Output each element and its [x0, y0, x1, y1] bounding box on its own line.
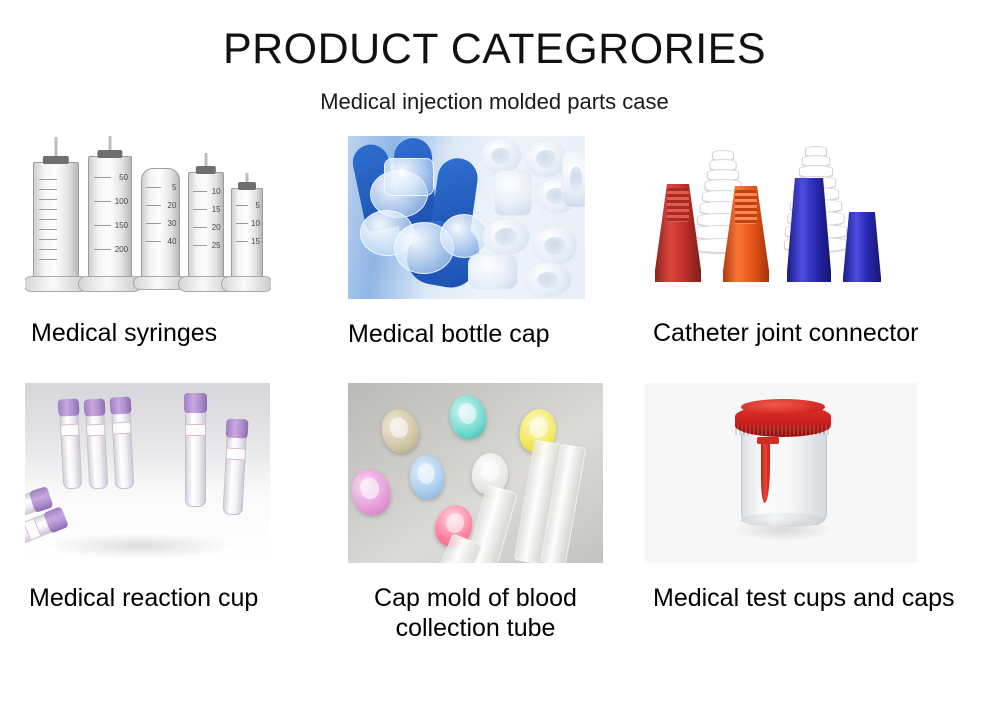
category-label-medical-syringes: Medical syringes	[31, 318, 330, 348]
category-card-medical-reaction-cup[interactable]: Medical reaction cup	[0, 383, 330, 643]
category-label-medical-test-cups-and-caps: Medical test cups and caps	[653, 583, 989, 613]
category-card-medical-syringes[interactable]: 50 100 150 200 5 20 30 40	[0, 136, 330, 349]
category-card-catheter-joint-connector[interactable]: Catheter joint connector	[640, 136, 989, 349]
category-grid: 50 100 150 200 5 20 30 40	[0, 136, 989, 643]
page-title: PRODUCT CATEGRORIES	[0, 0, 989, 71]
category-row-1: 50 100 150 200 5 20 30 40	[0, 136, 989, 349]
medical-syringes-photo: 50 100 150 200 5 20 30 40	[25, 136, 271, 296]
page-subtitle: Medical injection molded parts case	[0, 71, 989, 113]
category-label-catheter-joint-connector: Catheter joint connector	[653, 318, 989, 348]
category-card-cap-mold-blood-collection-tube[interactable]: Cap mold of blood collection tube	[330, 383, 640, 643]
category-label-cap-mold-blood-collection-tube: Cap mold of blood collection tube	[348, 583, 603, 643]
medical-test-cups-and-caps-photo	[645, 383, 917, 563]
cap-mold-blood-collection-tube-photo	[348, 383, 603, 563]
category-card-medical-test-cups-and-caps[interactable]: Medical test cups and caps	[640, 383, 989, 643]
page-header: PRODUCT CATEGRORIES Medical injection mo…	[0, 0, 989, 113]
category-card-medical-bottle-cap[interactable]: Medical bottle cap	[330, 136, 640, 349]
catheter-joint-connector-photo	[645, 136, 910, 296]
medical-bottle-cap-photo	[348, 136, 585, 299]
product-categories-page: PRODUCT CATEGRORIES Medical injection mo…	[0, 0, 989, 723]
category-label-medical-reaction-cup: Medical reaction cup	[29, 583, 330, 613]
category-row-2: Medical reaction cup Cap mold o	[0, 383, 989, 643]
category-label-medical-bottle-cap: Medical bottle cap	[348, 319, 640, 349]
medical-reaction-cup-photo	[25, 383, 270, 563]
